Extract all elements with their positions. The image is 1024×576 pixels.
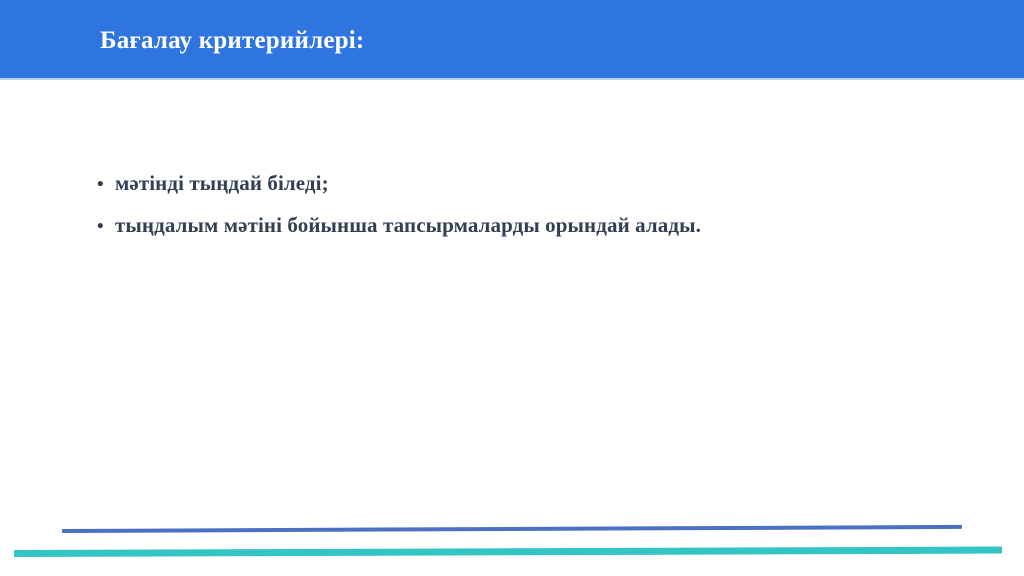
decorative-line-blue xyxy=(62,525,962,533)
slide-body-content: •мәтінді тыңдай біледі; •тыңдалым мәтіні… xyxy=(97,163,957,247)
list-item-label: тыңдалым мәтіні бойынша тапсырмаларды ор… xyxy=(115,213,701,237)
list-item: •тыңдалым мәтіні бойынша тапсырмаларды о… xyxy=(97,205,957,247)
list-item-label: мәтінді тыңдай біледі; xyxy=(115,171,329,195)
page-title: Бағалау критерийлері: xyxy=(100,27,364,55)
presentation-slide: Бағалау критерийлері: •мәтінді тыңдай бі… xyxy=(0,0,1024,576)
list-item: •мәтінді тыңдай біледі; xyxy=(97,163,957,205)
bullet-point-icon: • xyxy=(97,207,115,247)
slide-header-band-edge xyxy=(0,78,1024,80)
bullet-point-icon: • xyxy=(97,165,115,205)
decorative-line-teal xyxy=(14,547,1002,557)
